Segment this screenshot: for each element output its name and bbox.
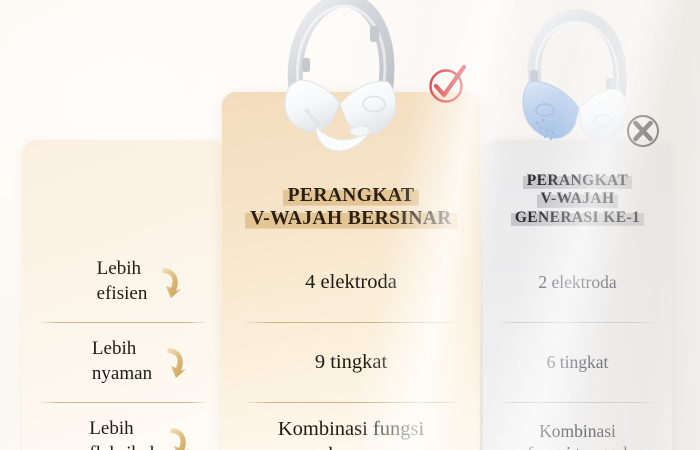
new-device-title-line-1: PERANGKAT (283, 184, 420, 207)
spec-row: 4 elektroda (222, 242, 480, 322)
old-device-title: PERANGKAT V-WAJAH GENERASI KE-1 (483, 172, 672, 227)
old-device-title-line-2: V-WAJAH (537, 190, 619, 208)
new-device-title: PERANGKAT V-WAJAH BERSINAR (222, 184, 480, 230)
benefit-label: Lebih fleksibel (89, 417, 154, 450)
benefit-row: Lebih efisien (22, 242, 224, 322)
spec-value: Kombinasi fungsi tunggal (517, 420, 638, 450)
spec-row: 6 tingkat (483, 322, 672, 402)
curved-arrow-icon (162, 345, 188, 379)
benefit-label: Lebih efisien (97, 257, 148, 306)
benefit-row: Lebih nyaman (22, 322, 224, 402)
spec-row: Kombinasi fungsi tunggal (483, 402, 672, 450)
curved-arrow-icon (165, 425, 191, 450)
spec-row: 9 tingkat (222, 322, 480, 402)
spec-value: 9 tingkat (305, 349, 397, 375)
spec-value: 4 elektroda (295, 269, 407, 295)
curved-arrow-icon (157, 265, 183, 299)
comparison-infographic: BEAUTY (0, 0, 700, 450)
spec-value: 6 tingkat (537, 351, 619, 373)
new-device-title-line-2: V-WAJAH BERSINAR (245, 207, 457, 230)
spec-value: Kombinasi fungsi yg beragam (268, 416, 434, 450)
spec-row: Kombinasi fungsi yg beragam (222, 402, 480, 450)
spec-value: 2 elektroda (528, 271, 626, 293)
old-device-title-line-3: GENERASI KE-1 (511, 209, 644, 227)
benefit-row: Lebih fleksibel (22, 402, 224, 450)
old-device-specs: 2 elektroda 6 tingkat Kombinasi fungsi t… (483, 242, 672, 450)
spec-row: 2 elektroda (483, 242, 672, 322)
new-device-specs: 4 elektroda 9 tingkat Kombinasi fungsi y… (222, 242, 480, 450)
old-device-title-line-1: PERANGKAT (523, 172, 632, 190)
cross-circle-icon (622, 110, 664, 152)
benefits-list: Lebih efisien Lebih nyaman Lebih fleksib… (22, 242, 224, 450)
benefit-label: Lebih nyaman (92, 337, 152, 386)
check-circle-icon (424, 62, 470, 108)
